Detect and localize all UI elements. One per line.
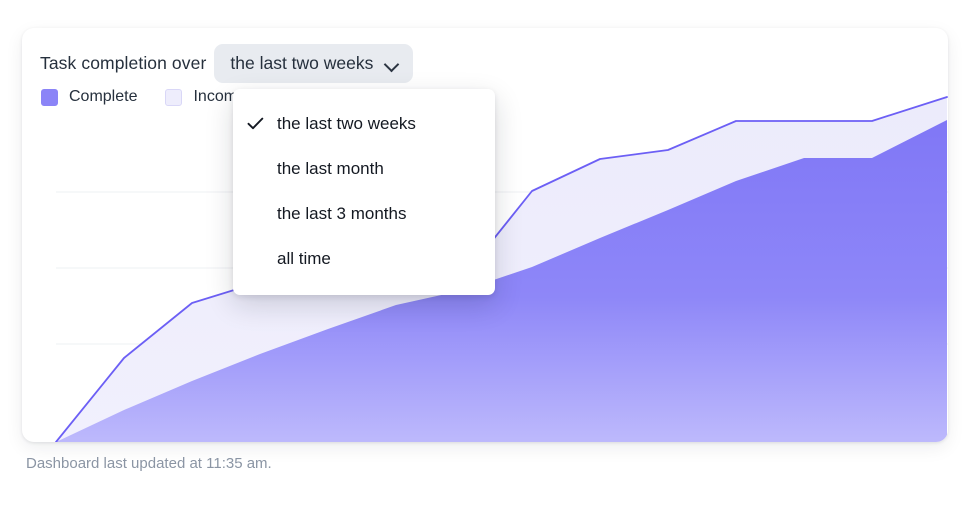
check-icon — [247, 117, 273, 130]
menu-item-the-last-month[interactable]: the last month — [233, 146, 495, 191]
card-header: Task completion over the last two weeks — [40, 44, 413, 83]
menu-item-the-last-two-weeks[interactable]: the last two weeks — [233, 101, 495, 146]
page-title: Task completion over — [40, 53, 206, 74]
time-range-select-value: the last two weeks — [230, 53, 373, 74]
time-range-dropdown-menu[interactable]: the last two weeks the last month the la… — [233, 89, 495, 295]
dashboard-root: 20 15 10 Task completion over the last t… — [0, 0, 980, 508]
menu-item-label: the last two weeks — [273, 114, 416, 134]
menu-item-label: the last month — [273, 159, 384, 179]
menu-item-label: the last 3 months — [273, 204, 406, 224]
menu-item-all-time[interactable]: all time — [233, 236, 495, 281]
legend-label-complete: Complete — [69, 88, 137, 106]
chart-series-complete — [56, 120, 947, 442]
legend-swatch-complete — [41, 89, 58, 106]
dashboard-status-text: Dashboard last updated at 11:35 am. — [26, 455, 272, 472]
time-range-select[interactable]: the last two weeks — [214, 44, 413, 83]
chevron-down-icon — [385, 59, 399, 68]
legend-swatch-incomplete — [165, 89, 182, 106]
menu-item-label: all time — [273, 249, 331, 269]
menu-item-the-last-3-months[interactable]: the last 3 months — [233, 191, 495, 236]
legend-item-complete: Complete — [41, 88, 137, 106]
